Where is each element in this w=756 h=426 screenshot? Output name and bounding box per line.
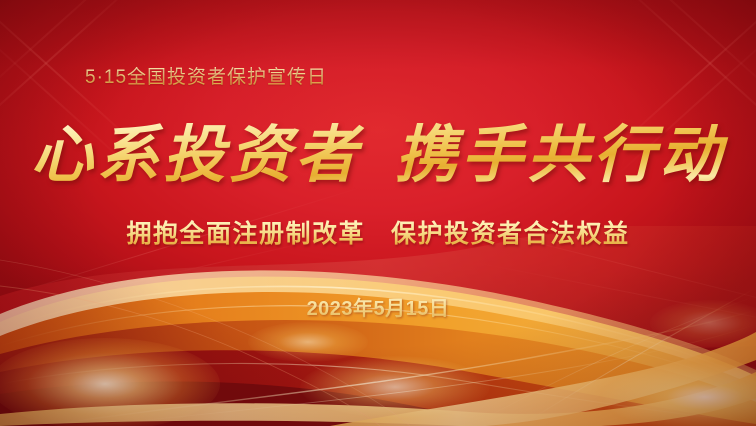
poster-content: 5·15全国投资者保护宣传日 心系投资者携手共行动 拥抱全面注册制改革保护投资者… [0, 0, 756, 426]
subhead-phrase-1: 拥抱全面注册制改革 [126, 220, 365, 248]
poster-date: 2023年5月15日 [0, 292, 756, 321]
poster-canvas: 5·15全国投资者保护宣传日 心系投资者携手共行动 拥抱全面注册制改革保护投资者… [0, 0, 756, 426]
subhead-phrase-2: 保护投资者合法权益 [391, 220, 630, 248]
headline-phrase-1: 心系投资者 [31, 118, 361, 191]
headline-phrase-2: 携手共行动 [395, 118, 725, 191]
event-kicker-label: 5·15全国投资者保护宣传日 [85, 62, 327, 89]
poster-subhead: 拥抱全面注册制改革保护投资者合法权益 [0, 214, 756, 250]
poster-headline: 心系投资者携手共行动 [0, 116, 756, 194]
